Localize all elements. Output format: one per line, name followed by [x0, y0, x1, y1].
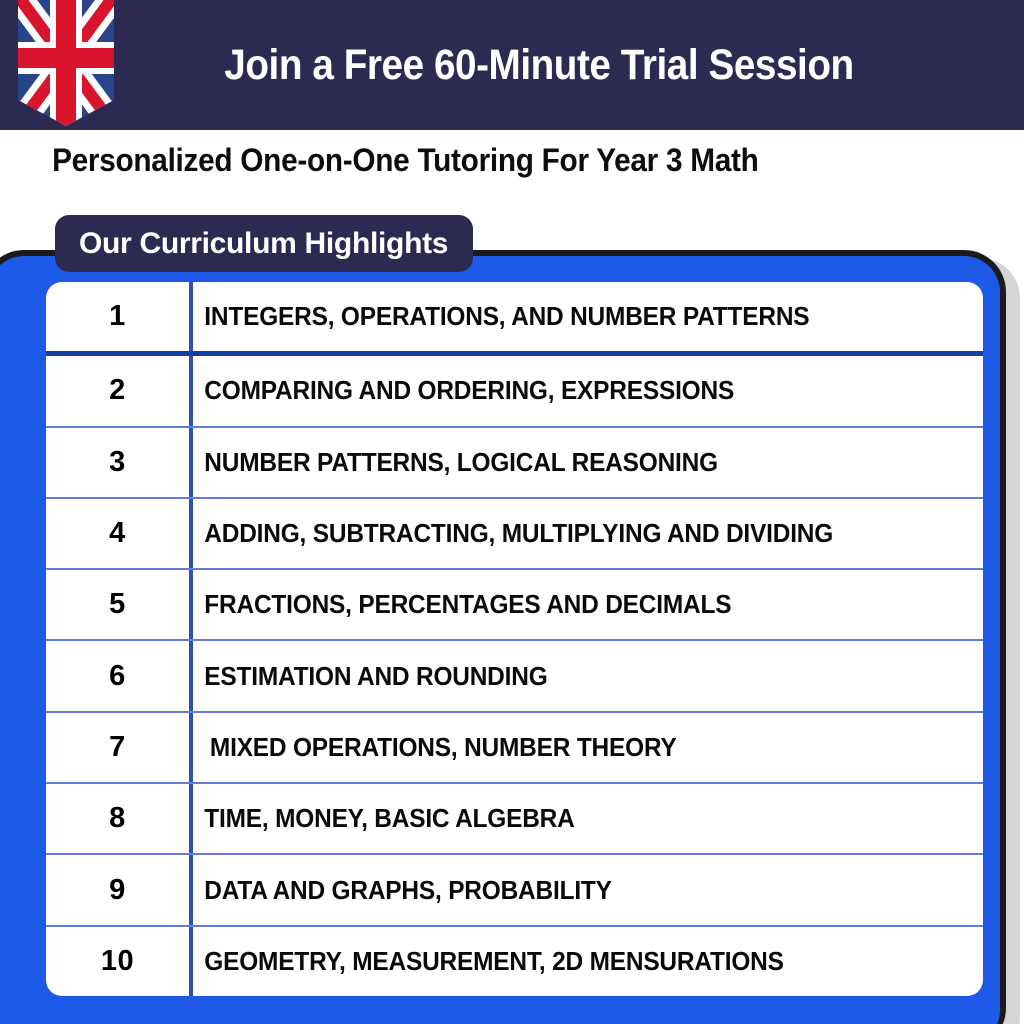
curriculum-table: 1 INTEGERS, OPERATIONS, AND NUMBER PATTE… — [46, 282, 983, 996]
table-row: 10 GEOMETRY, MEASUREMENT, 2D MENSURATION… — [46, 927, 983, 996]
badge-label: Our Curriculum Highlights — [79, 227, 448, 261]
row-number: 8 — [46, 784, 193, 853]
header-bar: Join a Free 60-Minute Trial Session — [0, 0, 1024, 130]
curriculum-highlights-badge: Our Curriculum Highlights — [55, 215, 473, 272]
row-number: 6 — [46, 641, 193, 710]
row-topic: ESTIMATION AND ROUNDING — [193, 661, 936, 692]
row-topic: ADDING, SUBTRACTING, MULTIPLYING AND DIV… — [193, 518, 936, 549]
row-topic: TIME, MONEY, BASIC ALGEBRA — [193, 803, 936, 834]
page-title: Join a Free 60-Minute Trial Session — [51, 0, 973, 130]
table-row: 2 COMPARING AND ORDERING, EXPRESSIONS — [46, 356, 983, 427]
row-number: 3 — [46, 428, 193, 497]
row-number: 1 — [46, 282, 193, 351]
row-topic: GEOMETRY, MEASUREMENT, 2D MENSURATIONS — [193, 946, 936, 977]
row-topic: NUMBER PATTERNS, LOGICAL REASONING — [193, 447, 936, 478]
row-topic: INTEGERS, OPERATIONS, AND NUMBER PATTERN… — [193, 301, 936, 332]
table-row: 7 MIXED OPERATIONS, NUMBER THEORY — [46, 713, 983, 784]
row-number: 10 — [46, 927, 193, 996]
table-row: 5 FRACTIONS, PERCENTAGES AND DECIMALS — [46, 570, 983, 641]
table-row: 4 ADDING, SUBTRACTING, MULTIPLYING AND D… — [46, 499, 983, 570]
table-row: 9 DATA AND GRAPHS, PROBABILITY — [46, 855, 983, 926]
row-number: 4 — [46, 499, 193, 568]
table-row: 8 TIME, MONEY, BASIC ALGEBRA — [46, 784, 983, 855]
row-topic: DATA AND GRAPHS, PROBABILITY — [193, 875, 936, 906]
row-topic: MIXED OPERATIONS, NUMBER THEORY — [193, 732, 936, 763]
row-number: 9 — [46, 855, 193, 924]
table-row: 3 NUMBER PATTERNS, LOGICAL REASONING — [46, 428, 983, 499]
table-row: 6 ESTIMATION AND ROUNDING — [46, 641, 983, 712]
subtitle-text: Personalized One-on-One Tutoring For Yea… — [0, 142, 952, 179]
row-topic: COMPARING AND ORDERING, EXPRESSIONS — [193, 375, 936, 406]
row-number: 7 — [46, 713, 193, 782]
row-topic: FRACTIONS, PERCENTAGES AND DECIMALS — [193, 589, 936, 620]
row-number: 5 — [46, 570, 193, 639]
row-number: 2 — [46, 356, 193, 425]
table-row: 1 INTEGERS, OPERATIONS, AND NUMBER PATTE… — [46, 282, 983, 356]
